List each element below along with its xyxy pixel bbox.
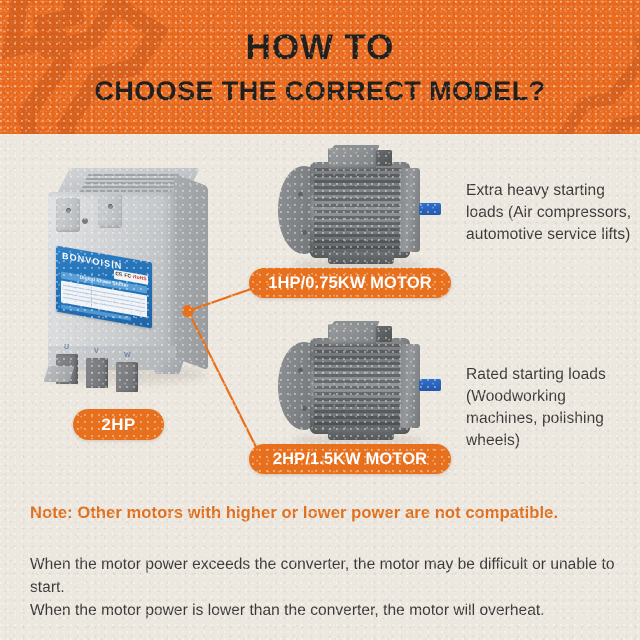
motor-bolt xyxy=(302,406,307,411)
motor-image-2 xyxy=(276,324,446,449)
explanation-text: When the motor power exceeds the convert… xyxy=(30,553,618,622)
page-title-line1: HOW TO xyxy=(246,30,395,65)
motor-base-foot xyxy=(328,252,394,264)
device-screw xyxy=(66,208,71,213)
motor-terminal-box xyxy=(328,148,376,170)
motor-terminal-box xyxy=(328,324,376,346)
motor-mounting-flange xyxy=(400,168,420,252)
phase-converter-device: BONVOISIN CE FC RoHS Digital Phase Shift… xyxy=(38,168,210,398)
motor-bolt xyxy=(302,230,307,235)
fcc-mark: FC xyxy=(124,274,131,280)
terminal-mark-u: U xyxy=(64,344,69,351)
page-title-line2: CHOOSE THE CORRECT MODEL? xyxy=(94,78,545,105)
infographic-page: HOW TO CHOOSE THE CORRECT MODEL? BONVOIS… xyxy=(0,0,640,640)
motor-bolt xyxy=(298,368,303,373)
device-screw xyxy=(108,204,113,209)
motor-shaft-cap xyxy=(419,203,441,215)
motor-cable-connector xyxy=(376,150,392,166)
device-mount-lug xyxy=(98,194,122,228)
device-terminal xyxy=(86,358,108,388)
header-banner: HOW TO CHOOSE THE CORRECT MODEL? xyxy=(0,0,640,134)
motor-image-1 xyxy=(276,148,446,273)
description-motor-1: Extra heavy starting loads (Air compress… xyxy=(466,180,638,246)
motor-cooling-fins xyxy=(314,344,406,428)
badge-motor-2[interactable]: 2HP/1.5KW MOTOR xyxy=(249,444,451,474)
motor-mounting-flange xyxy=(400,344,420,428)
device-foot xyxy=(153,358,184,374)
motor-cable-connector xyxy=(376,326,392,342)
explanation-line-2: When the motor power is lower than the c… xyxy=(30,599,618,622)
motor-bolt xyxy=(298,192,303,197)
terminal-mark-w: W xyxy=(124,352,131,359)
ce-mark: CE xyxy=(115,272,122,278)
device-indicator-hole xyxy=(82,218,88,224)
motor-base-foot xyxy=(328,428,394,440)
badge-motor-1[interactable]: 1HP/0.75KW MOTOR xyxy=(249,268,451,298)
device-side-panel xyxy=(174,174,208,370)
device-mount-lug xyxy=(56,198,80,232)
motor-cooling-fins xyxy=(314,168,406,252)
device-foot xyxy=(43,366,74,382)
device-terminal xyxy=(116,362,138,392)
terminal-mark-v: V xyxy=(94,348,99,355)
rohs-mark: RoHS xyxy=(133,275,147,282)
badge-converter-rating[interactable]: 2HP xyxy=(73,409,164,440)
header-title-block: HOW TO CHOOSE THE CORRECT MODEL? xyxy=(0,0,640,134)
compatibility-note: Note: Other motors with higher or lower … xyxy=(30,502,614,525)
description-motor-2: Rated starting loads (Woodworking machin… xyxy=(466,364,638,452)
motor-shaft-cap xyxy=(419,379,441,391)
explanation-line-1: When the motor power exceeds the convert… xyxy=(30,553,618,599)
